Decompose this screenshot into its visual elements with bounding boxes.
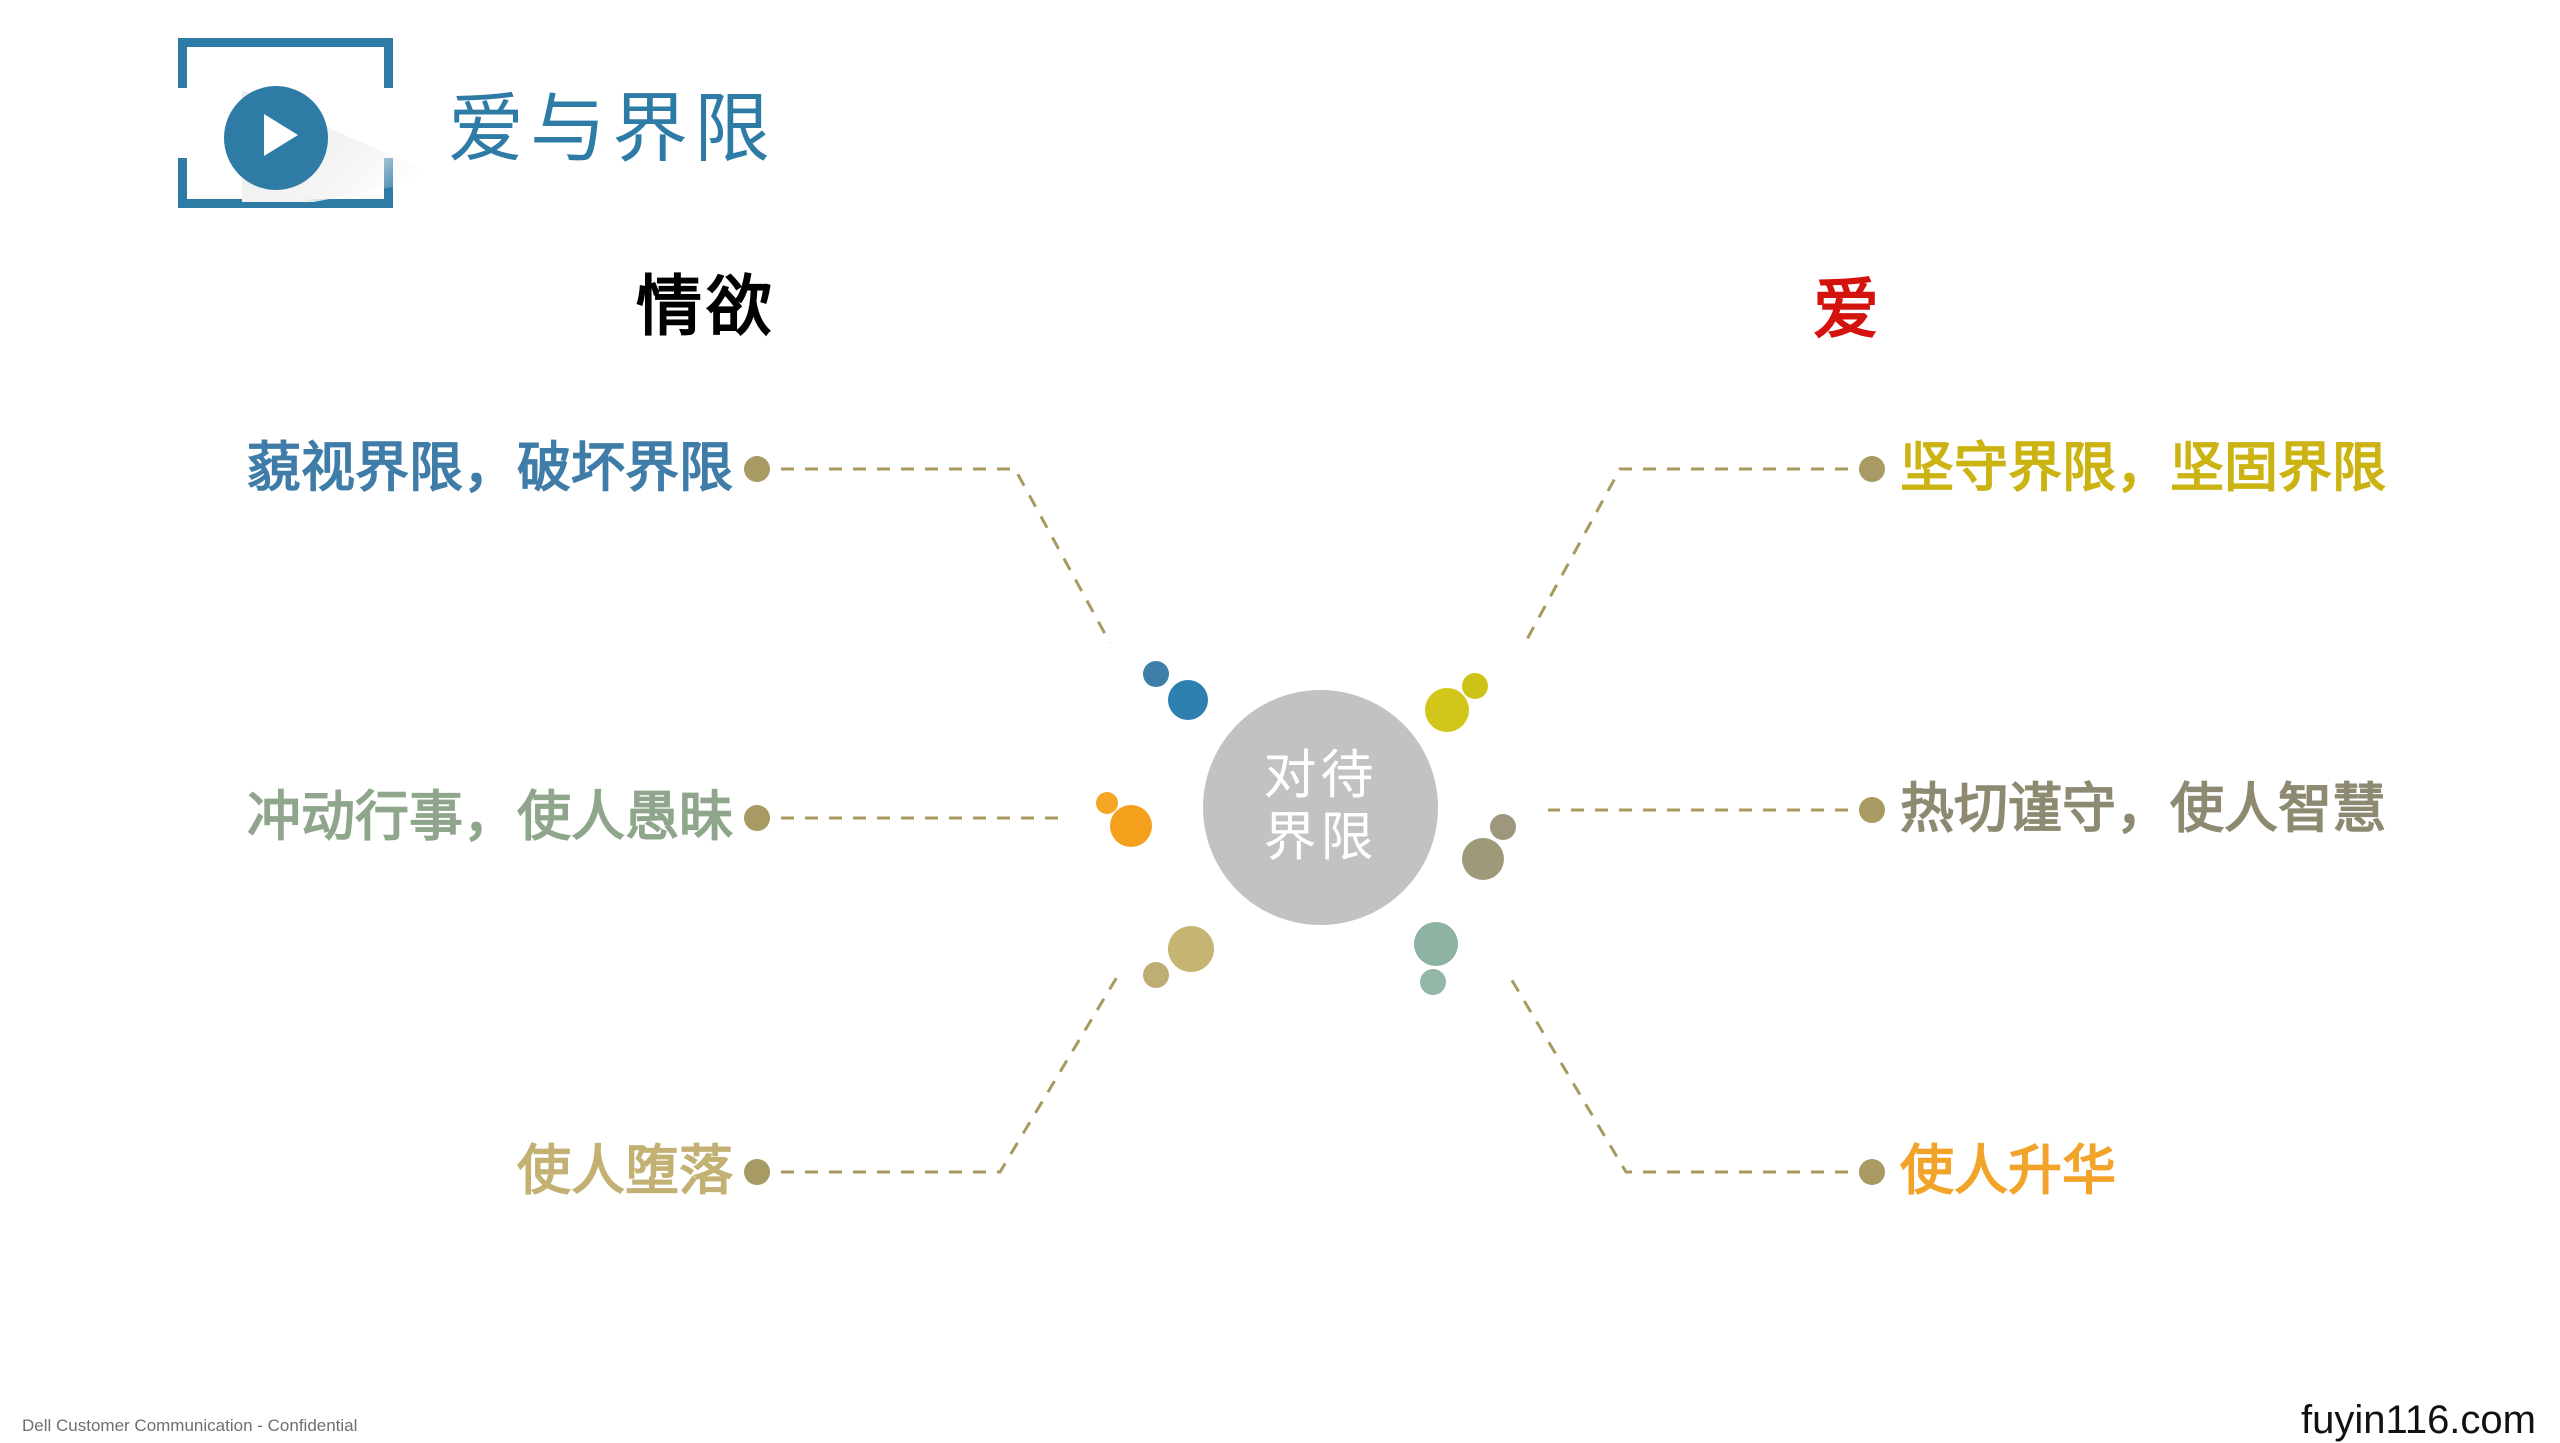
- branch-label-right-1[interactable]: 坚守界限，坚固界限: [1900, 441, 2386, 495]
- slide-canvas: 爱与界限 情欲 爱 对待 界: [0, 0, 2560, 1440]
- dot-blue-large: [1168, 680, 1208, 720]
- wire-endpoint-left-middle: [744, 805, 770, 831]
- wire-right-bottom: [1510, 977, 1872, 1172]
- hub-label-line-2: 界限: [1264, 808, 1378, 869]
- wire-endpoint-right-middle: [1859, 797, 1885, 823]
- wire-endpoint-left-bottom: [744, 1159, 770, 1185]
- dot-olive-large: [1462, 838, 1504, 880]
- branch-label-right-3[interactable]: 使人升华: [1900, 1144, 2116, 1198]
- dot-orange-large: [1110, 805, 1152, 847]
- branch-label-left-3[interactable]: 使人堕落: [517, 1144, 733, 1198]
- center-hub: 对待 界限: [1203, 690, 1438, 925]
- confidentiality-notice: Dell Customer Communication - Confidenti…: [22, 1416, 357, 1436]
- wire-left-top: [757, 469, 1110, 643]
- dot-blue-small: [1143, 661, 1169, 687]
- wire-endpoint-right-top: [1859, 456, 1885, 482]
- wire-endpoint-right-bottom: [1859, 1159, 1885, 1185]
- branch-label-right-2[interactable]: 热切谨守，使人智慧: [1900, 782, 2386, 836]
- hub-label-line-1: 对待: [1264, 746, 1378, 807]
- branch-label-left-2[interactable]: 冲动行事，使人愚昧: [247, 790, 733, 844]
- dot-tan-small: [1143, 962, 1169, 988]
- dot-sage-small: [1420, 969, 1446, 995]
- wire-left-bottom: [757, 977, 1117, 1172]
- dot-yellow-large: [1425, 688, 1469, 732]
- dot-olive-small: [1490, 814, 1516, 840]
- wire-right-top: [1525, 469, 1872, 643]
- site-watermark: fuyin116.com: [2301, 1398, 2536, 1443]
- dot-sage-large: [1414, 922, 1458, 966]
- wire-endpoint-left-top: [744, 456, 770, 482]
- dot-tan-large: [1168, 926, 1214, 972]
- dot-yellow-small: [1462, 673, 1488, 699]
- branch-label-left-1[interactable]: 藐视界限，破坏界限: [247, 441, 733, 495]
